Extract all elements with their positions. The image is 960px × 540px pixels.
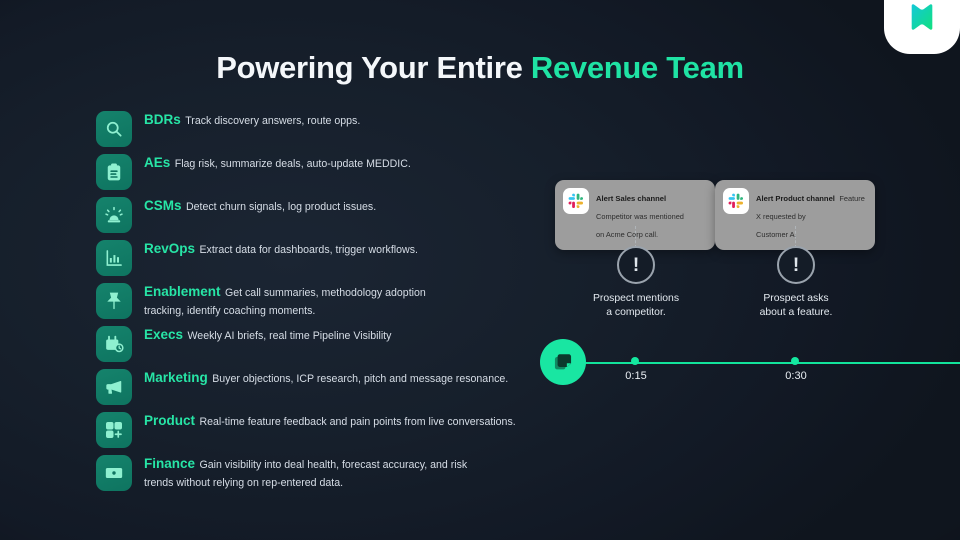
list-item[interactable]: Enablement Get call summaries, methodolo… [96,282,566,319]
megaphone-icon [96,369,132,405]
grid-plus-icon [96,412,132,448]
slack-alert-title: Alert Sales channel [596,194,666,203]
list-item-desc: Track discovery answers, route opps. [185,115,360,127]
list-item[interactable]: Marketing Buyer objections, ICP research… [96,368,566,405]
banknote-icon [96,455,132,491]
search-icon [96,111,132,147]
slack-alert-title: Alert Product channel [756,194,835,203]
list-item[interactable]: AEs Flag risk, summarize deals, auto-upd… [96,153,566,190]
exclamation-circle-icon: ! [617,246,655,284]
list-item[interactable]: Product Real-time feature feedback and p… [96,411,566,448]
list-item[interactable]: BDRs Track discovery answers, route opps… [96,110,566,147]
timeline-node-caption: Prospect asks about a feature. [715,292,877,319]
list-item-desc: Extract data for dashboards, trigger wor… [199,244,417,256]
briefcase-clock-icon [96,326,132,362]
bar-chart-icon [96,240,132,276]
list-item[interactable]: Finance Gain visibility into deal health… [96,454,566,491]
list-item-desc: Buyer objections, ICP research, pitch an… [212,373,508,385]
list-item-title: CSMs [144,198,182,213]
list-item-title: Product [144,413,195,428]
siren-icon [96,197,132,233]
pushpin-icon [96,283,132,319]
slack-alert-sub: Competitor was mentioned on Acme Corp ca… [596,212,684,239]
list-item-title: BDRs [144,112,181,127]
list-item-desc: Real-time feature feedback and pain poin… [199,416,515,428]
copy-document-icon[interactable] [540,339,586,385]
timeline-track [560,362,960,364]
timeline-marker-dot[interactable] [791,357,799,365]
list-item-title: Enablement [144,284,221,299]
list-item-title: RevOps [144,241,195,256]
connector-dashed-line [635,226,636,248]
timeline-node: Alert Product channel Feature X requeste… [715,180,915,250]
page-title: Powering Your Entire Revenue Team [0,50,960,86]
connector-dashed-line [795,226,796,248]
list-item-desc: Flag risk, summarize deals, auto-update … [175,158,411,170]
list-item-desc: Weekly AI briefs, real time Pipeline Vis… [188,330,392,342]
list-item[interactable]: RevOps Extract data for dashboards, trig… [96,239,566,276]
call-timeline: Alert Sales channel Competitor was menti… [530,180,960,395]
list-item[interactable]: Execs Weekly AI briefs, real time Pipeli… [96,325,566,362]
exclamation-circle-icon: ! [777,246,815,284]
timeline-node-caption: Prospect mentions a competitor. [555,292,717,319]
list-item-title: Finance [144,456,195,471]
roles-list: BDRs Track discovery answers, route opps… [96,110,566,497]
list-item-title: Execs [144,327,183,342]
timeline-timestamp: 0:30 [715,370,877,382]
list-item-title: AEs [144,155,170,170]
list-item-desc: Detect churn signals, log product issues… [186,201,376,213]
clipboard-icon [96,154,132,190]
page-title-accent: Revenue Team [531,50,744,85]
slack-icon [563,188,589,214]
list-item[interactable]: CSMs Detect churn signals, log product i… [96,196,566,233]
slide-canvas: Powering Your Entire Revenue Team BDRs T… [0,0,960,540]
list-item-title: Marketing [144,370,208,385]
slack-icon [723,188,749,214]
page-title-main: Powering Your Entire [216,50,531,85]
bowtie-logo-icon [907,2,937,32]
timeline-marker-dot[interactable] [631,357,639,365]
brand-logo-badge [884,0,960,54]
